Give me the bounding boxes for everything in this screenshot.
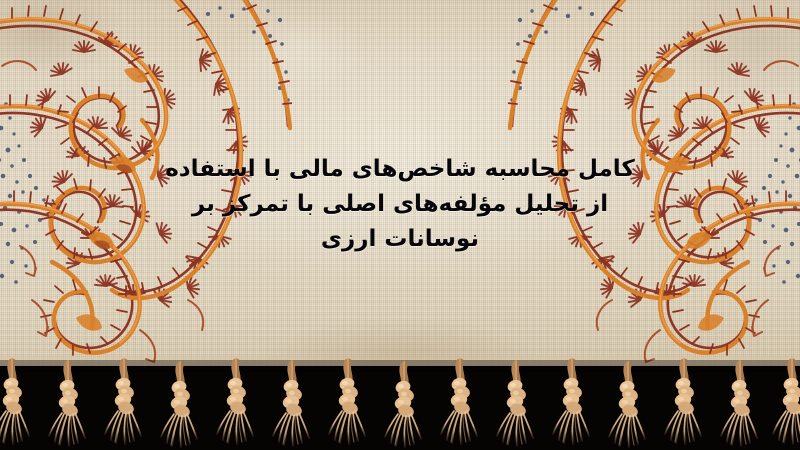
title-line-3: نوسانات ارزی (0, 222, 800, 257)
slide-title: کامل محاسبه شاخص‌های مالی با استفاده از … (0, 152, 800, 257)
slide-canvas: کامل محاسبه شاخص‌های مالی با استفاده از … (0, 0, 800, 450)
tassel-fringe (0, 352, 800, 450)
title-line-1: کامل محاسبه شاخص‌های مالی با استفاده (0, 152, 800, 187)
title-line-2: از تحلیل مؤلفه‌های اصلی با تمرکز بر (0, 187, 800, 222)
